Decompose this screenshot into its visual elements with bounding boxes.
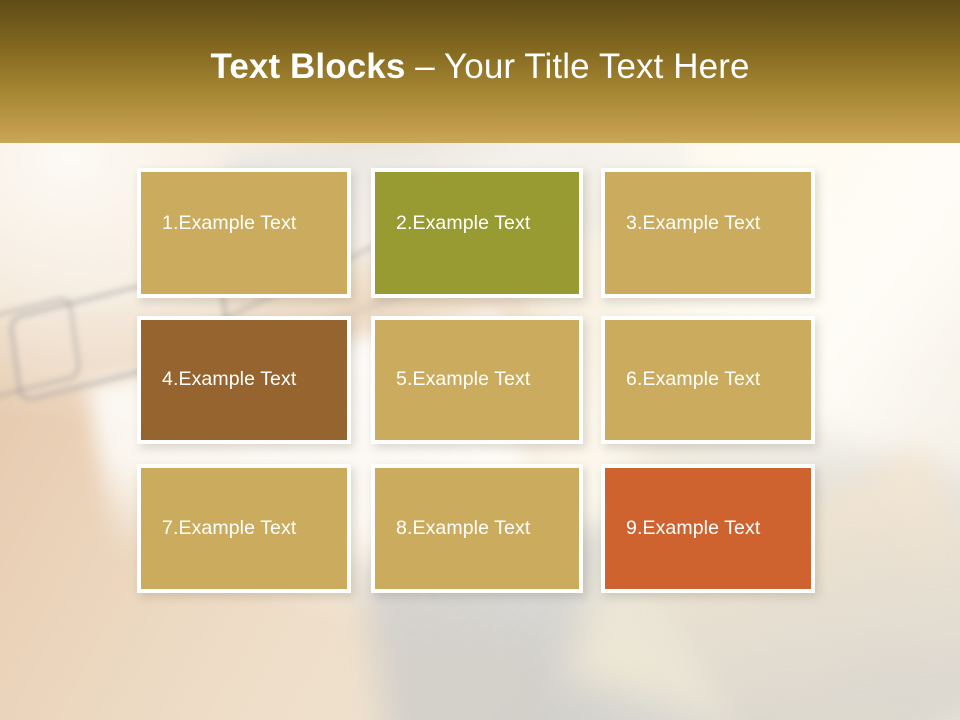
text-block-2[interactable]: 2.Example Text (371, 168, 583, 298)
slide-title-regular-part: – Your Title Text Here (405, 47, 749, 86)
text-block-8[interactable]: 8.Example Text (371, 464, 583, 593)
title-banner: Text Blocks – Your Title Text Here (0, 0, 960, 143)
text-block-3-label: 3.Example Text (605, 213, 760, 234)
text-block-5-label: 5.Example Text (375, 369, 530, 390)
text-block-7-label: 7.Example Text (141, 518, 296, 539)
text-block-1[interactable]: 1.Example Text (137, 168, 351, 298)
text-block-5[interactable]: 5.Example Text (371, 316, 583, 444)
slide-title-bold-part: Text Blocks (210, 47, 405, 86)
text-block-9[interactable]: 9.Example Text (601, 464, 815, 593)
text-block-8-label: 8.Example Text (375, 518, 530, 539)
text-block-1-label: 1.Example Text (141, 213, 296, 234)
text-block-grid: 1.Example Text 2.Example Text 3.Example … (137, 168, 815, 593)
text-block-4[interactable]: 4.Example Text (137, 316, 351, 444)
text-block-9-label: 9.Example Text (605, 518, 760, 539)
text-block-4-label: 4.Example Text (141, 369, 296, 390)
presentation-slide: Text Blocks – Your Title Text Here 1.Exa… (0, 0, 960, 720)
text-block-7[interactable]: 7.Example Text (137, 464, 351, 593)
text-block-6-label: 6.Example Text (605, 369, 760, 390)
slide-title: Text Blocks – Your Title Text Here (210, 49, 749, 84)
text-block-2-label: 2.Example Text (375, 213, 530, 234)
text-block-6[interactable]: 6.Example Text (601, 316, 815, 444)
text-block-3[interactable]: 3.Example Text (601, 168, 815, 298)
